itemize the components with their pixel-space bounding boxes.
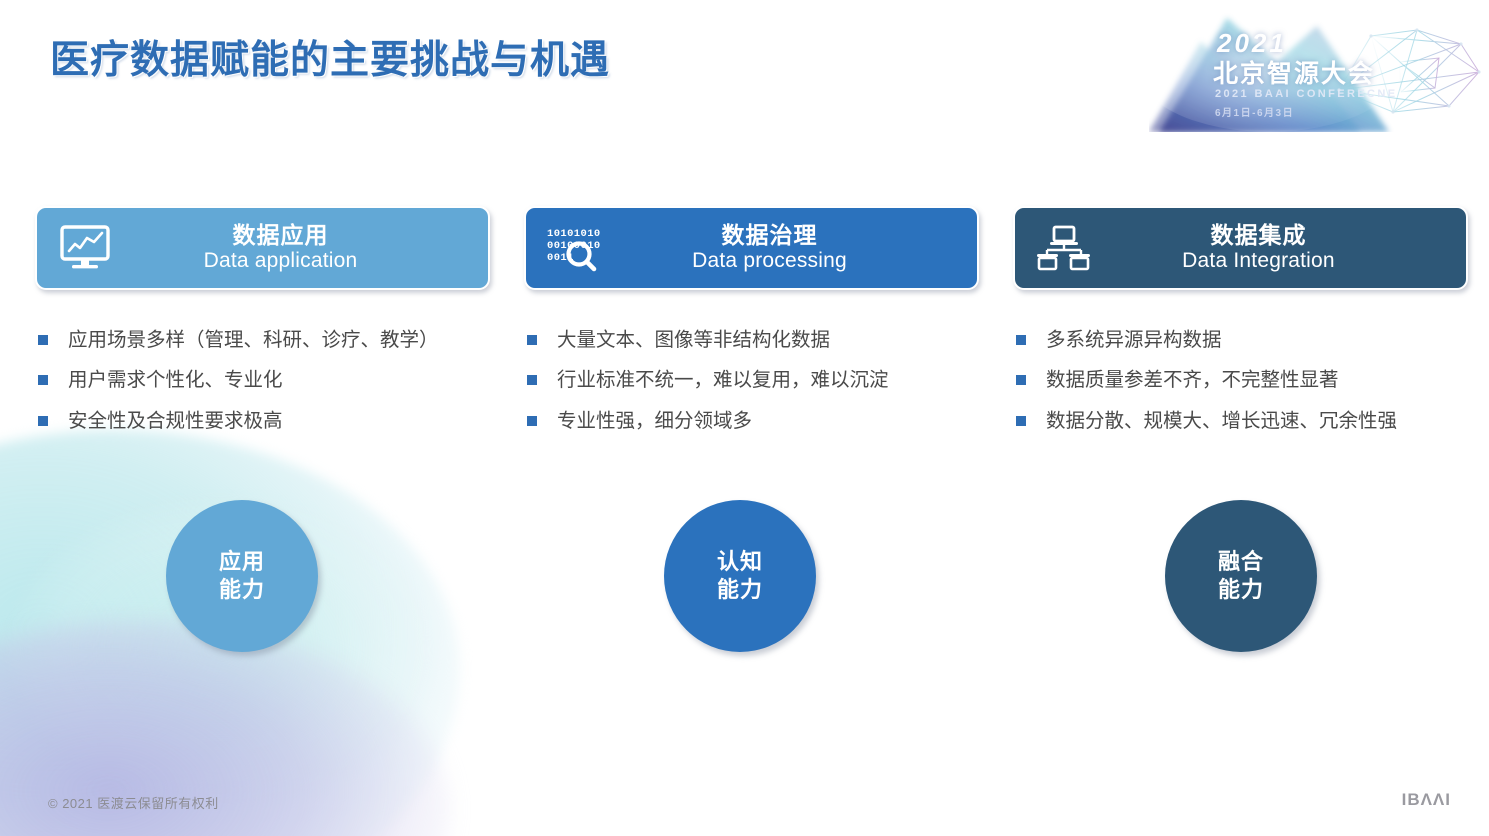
bullet-text: 应用场景多样（管理、科研、诊疗、教学） xyxy=(68,326,439,354)
column-data-integration: 数据集成 Data Integration 多系统异源异构数据 数据质量参差不齐… xyxy=(1013,206,1468,447)
conference-logo-name: 北京智源大会 xyxy=(1213,54,1375,90)
bullet-text: 数据质量参差不齐，不完整性显著 xyxy=(1046,366,1339,394)
list-item: 用户需求个性化、专业化 xyxy=(38,366,490,394)
circle-label-line1: 融合 xyxy=(1218,548,1264,576)
circle-label-line1: 应用 xyxy=(219,548,265,576)
header-card-data-application[interactable]: 数据应用 Data application xyxy=(35,206,490,290)
conference-logo-date: 6月1日-6月3日 xyxy=(1215,104,1294,119)
bullet-text: 数据分散、规模大、增长迅速、冗余性强 xyxy=(1046,407,1397,435)
monitor-chart-icon xyxy=(37,206,133,290)
header-title-cn: 数据集成 xyxy=(1111,222,1406,249)
bullet-square-icon xyxy=(1016,375,1026,385)
header-card-data-integration[interactable]: 数据集成 Data Integration xyxy=(1013,206,1468,290)
circle-label-line2: 能力 xyxy=(717,576,763,604)
baai-logo: IBΛΛI xyxy=(1402,790,1451,810)
header-title-en: Data processing xyxy=(622,249,917,274)
presentation-slide: 医疗数据赋能的主要挑战与机遇 xyxy=(0,0,1489,836)
header-title-en: Data Integration xyxy=(1111,249,1406,274)
header-card-data-processing[interactable]: 10101010 00100010 0011 数据治理 Data process… xyxy=(524,206,979,290)
list-item: 应用场景多样（管理、科研、诊疗、教学） xyxy=(38,326,490,354)
capability-circles: 应用 能力 认知 能力 融合 能力 xyxy=(0,488,1489,698)
binary-magnifier-icon: 10101010 00100010 0011 xyxy=(526,206,622,290)
svg-text:10101010: 10101010 xyxy=(547,228,601,240)
column-data-application: 数据应用 Data application 应用场景多样（管理、科研、诊疗、教学… xyxy=(35,206,490,447)
footer-copyright: © 2021 医渡云保留所有权利 xyxy=(48,793,219,812)
bullet-square-icon xyxy=(38,335,48,345)
circle-label-line2: 能力 xyxy=(1218,576,1264,604)
list-item: 安全性及合规性要求极高 xyxy=(38,407,490,435)
list-item: 行业标准不统一，难以复用，难以沉淀 xyxy=(527,366,979,394)
capability-circle-application[interactable]: 应用 能力 xyxy=(166,500,318,652)
network-nodes-icon xyxy=(1015,206,1111,290)
header-title-cn: 数据应用 xyxy=(133,222,428,249)
bullet-list-data-application: 应用场景多样（管理、科研、诊疗、教学） 用户需求个性化、专业化 安全性及合规性要… xyxy=(35,326,490,435)
header-texts: 数据治理 Data processing xyxy=(622,222,977,274)
bullet-text: 用户需求个性化、专业化 xyxy=(68,366,283,394)
slide-title: 医疗数据赋能的主要挑战与机遇 xyxy=(50,29,610,85)
bullet-square-icon xyxy=(38,416,48,426)
conference-logo-english: 2021 BAAI CONFERECNE xyxy=(1215,88,1397,100)
capability-circle-integration[interactable]: 融合 能力 xyxy=(1165,500,1317,652)
list-item: 多系统异源异构数据 xyxy=(1016,326,1468,354)
bullet-square-icon xyxy=(527,416,537,426)
bullet-text: 专业性强，细分领域多 xyxy=(557,407,752,435)
list-item: 数据质量参差不齐，不完整性显著 xyxy=(1016,366,1468,394)
list-item: 专业性强，细分领域多 xyxy=(527,407,979,435)
bullet-text: 安全性及合规性要求极高 xyxy=(68,407,283,435)
circle-label-line1: 认知 xyxy=(717,548,763,576)
bullet-square-icon xyxy=(527,335,537,345)
header-texts: 数据集成 Data Integration xyxy=(1111,222,1466,274)
bullet-text: 行业标准不统一，难以复用，难以沉淀 xyxy=(557,366,889,394)
bullet-square-icon xyxy=(38,375,48,385)
list-item: 数据分散、规模大、增长迅速、冗余性强 xyxy=(1016,407,1468,435)
conference-logo: 2021 北京智源大会 2021 BAAI CONFERECNE 6月1日-6月… xyxy=(1149,0,1489,132)
bullet-square-icon xyxy=(1016,335,1026,345)
header-texts: 数据应用 Data application xyxy=(133,222,488,274)
bullet-text: 多系统异源异构数据 xyxy=(1046,326,1222,354)
bullet-text: 大量文本、图像等非结构化数据 xyxy=(557,326,830,354)
bullet-square-icon xyxy=(1016,416,1026,426)
column-data-processing: 10101010 00100010 0011 数据治理 Data process… xyxy=(524,206,979,447)
header-title-cn: 数据治理 xyxy=(622,222,917,249)
list-item: 大量文本、图像等非结构化数据 xyxy=(527,326,979,354)
circle-label-line2: 能力 xyxy=(219,576,265,604)
bullet-list-data-processing: 大量文本、图像等非结构化数据 行业标准不统一，难以复用，难以沉淀 专业性强，细分… xyxy=(524,326,979,435)
header-title-en: Data application xyxy=(133,249,428,274)
bullet-list-data-integration: 多系统异源异构数据 数据质量参差不齐，不完整性显著 数据分散、规模大、增长迅速、… xyxy=(1013,326,1468,435)
capability-circle-cognition[interactable]: 认知 能力 xyxy=(664,500,816,652)
bullet-square-icon xyxy=(527,375,537,385)
